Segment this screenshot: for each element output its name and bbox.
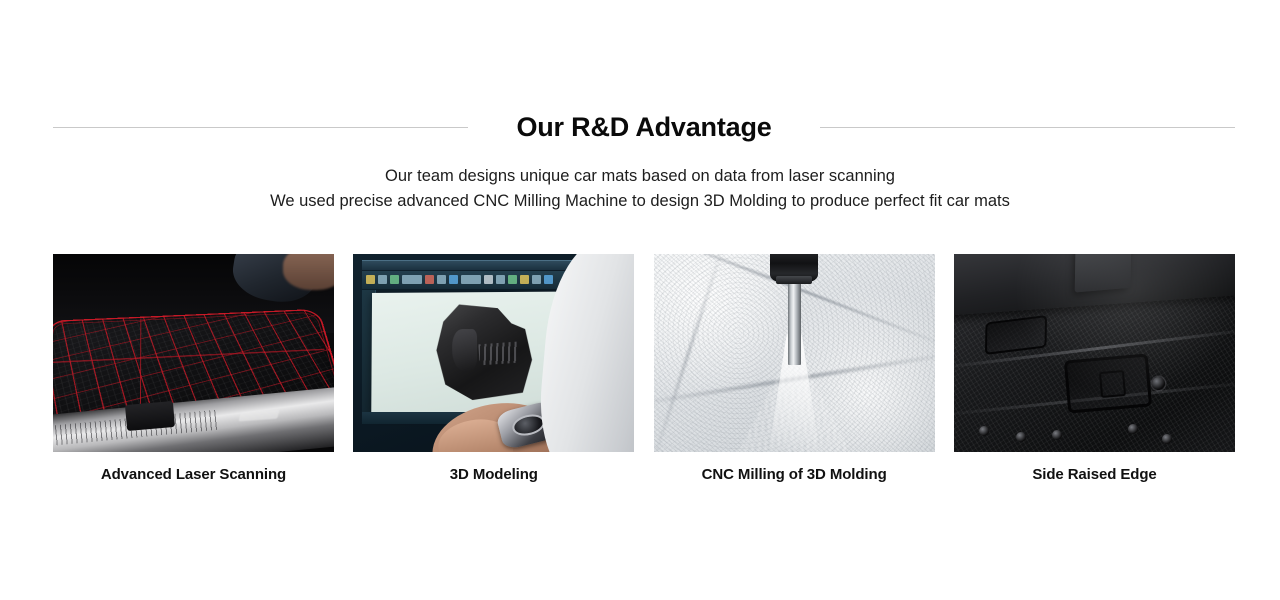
advantage-card[interactable]: Side Raised Edge (954, 254, 1235, 485)
card-caption: Side Raised Edge (954, 465, 1235, 485)
toolbar-icon (508, 275, 517, 284)
toolbar-icon (520, 275, 529, 284)
section-header: Our R&D Advantage (53, 106, 1235, 148)
section-subtitle: Our team designs unique car mats based o… (0, 164, 1280, 214)
cnc-milling-image[interactable] (654, 254, 935, 452)
operator-hand-shape (283, 254, 334, 290)
toolbar-icon (366, 275, 375, 284)
trunk-latch-shape (125, 400, 175, 430)
mat-grommet (1152, 377, 1165, 390)
side-raised-edge-image[interactable] (954, 254, 1235, 452)
advantage-card[interactable]: 3D Modeling (353, 254, 634, 485)
toolbar-icon (532, 275, 541, 284)
divider-right (820, 127, 1235, 128)
card-caption: CNC Milling of 3D Molding (654, 465, 935, 485)
subtitle-line-1: Our team designs unique car mats based o… (0, 164, 1280, 189)
card-caption: 3D Modeling (353, 465, 634, 485)
toolbar-icon (484, 275, 493, 284)
car-mat-3d-model (427, 304, 541, 400)
advantage-card[interactable]: CNC Milling of 3D Molding (654, 254, 935, 485)
mat-contour-cut-inner (1099, 370, 1126, 398)
laser-scanning-image[interactable] (53, 254, 334, 452)
toolbar-icon (544, 275, 553, 284)
mat-rib-texture (479, 341, 519, 365)
mat-corner-tab (1075, 254, 1132, 292)
milling-bit-shaft (788, 282, 801, 365)
advantage-card[interactable]: Advanced Laser Scanning (53, 254, 334, 485)
collet-ring (776, 276, 813, 284)
toolbar-icon (390, 275, 399, 284)
page-title: Our R&D Advantage (468, 114, 819, 141)
toolbar-icon (461, 275, 481, 284)
toolbar-icon (496, 275, 505, 284)
subtitle-line-2: We used precise advanced CNC Milling Mac… (0, 189, 1280, 214)
card-caption: Advanced Laser Scanning (53, 465, 334, 485)
toolbar-icon (425, 275, 434, 284)
advantage-card-list: Advanced Laser Scanning (53, 254, 1235, 485)
toolbar-icon (378, 275, 387, 284)
three-d-modeling-image[interactable] (353, 254, 634, 452)
divider-left (53, 127, 468, 128)
toolbar-icon (449, 275, 458, 284)
toolbar-icon (402, 275, 422, 284)
mat-heel-pad (452, 329, 477, 371)
mat-stud (1016, 432, 1026, 442)
toolbar-icon (437, 275, 446, 284)
mat-stud (1162, 434, 1172, 444)
rnd-advantage-section: Our R&D Advantage Our team designs uniqu… (0, 0, 1280, 600)
